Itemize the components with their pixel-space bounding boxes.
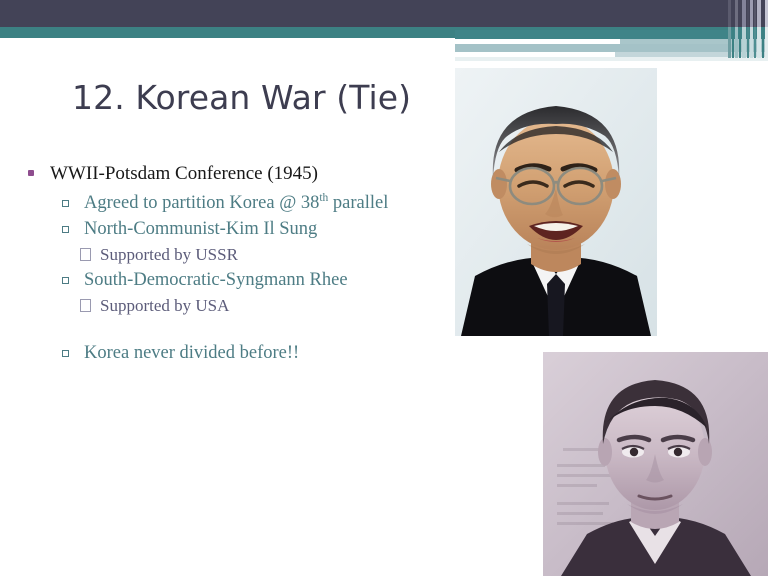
bullet-spacer (22, 318, 442, 340)
decor-vertical-stripe-5 (747, 0, 749, 58)
decor-vertical-stripe-3 (739, 0, 741, 58)
hollow-square-bullet-icon (62, 226, 69, 233)
bullet-text-tail: parallel (328, 193, 388, 213)
bullet-level2-partition: Agreed to partition Korea @ 38th paralle… (22, 190, 442, 216)
bullet-level3-usa: Supported by USA (22, 293, 442, 318)
portrait-kim-il-sung-graphic (455, 68, 657, 336)
hollow-square-bullet-icon (62, 350, 69, 357)
decor-vertical-stripe-7 (754, 0, 756, 58)
bullet-level2-north: North-Communist-Kim Il Sung (22, 216, 442, 242)
decor-strip-teal (455, 30, 768, 39)
superscript-ordinal: th (319, 192, 328, 204)
bullet-level1-potsdam: WWII-Potsdam Conference (1945) (22, 160, 442, 187)
bullet-text: Supported by USA (100, 296, 229, 315)
bullet-text-main: Agreed to partition Korea @ 38 (84, 193, 319, 213)
slide-body: WWII-Potsdam Conference (1945) Agreed to… (22, 160, 442, 366)
box-glyph-bullet-icon (80, 248, 91, 261)
bullet-text: North-Communist-Kim Il Sung (84, 219, 317, 239)
decor-vertical-stripe-1 (732, 0, 734, 58)
decor-vertical-stripe-0 (728, 0, 731, 58)
bullet-level2-never-divided: Korea never divided before!! (22, 340, 442, 366)
portrait-syngman-rhee-graphic (543, 352, 768, 576)
decor-vertical-stripe-2 (735, 0, 738, 58)
banner-white-mask (0, 38, 455, 58)
bullet-level3-ussr: Supported by USSR (22, 242, 442, 267)
filled-square-bullet-icon (28, 170, 34, 176)
bullet-text: Supported by USSR (100, 245, 238, 264)
decor-strip-light-blue-upper (455, 44, 768, 52)
bullet-level2-south: South-Democratic-Syngmann Rhee (22, 267, 442, 293)
decor-vertical-stripe-9 (762, 0, 764, 58)
banner-dark-band (0, 0, 768, 27)
decor-vertical-stripe-6 (750, 0, 753, 58)
bullet-text: South-Democratic-Syngmann Rhee (84, 270, 348, 290)
slide-title: 12. Korean War (Tie) (72, 78, 472, 117)
box-glyph-bullet-icon (80, 299, 91, 312)
decor-vertical-stripes (728, 0, 768, 58)
slide-canvas: 12. Korean War (Tie) WWII-Potsdam Confer… (0, 0, 768, 576)
decor-vertical-stripe-4 (742, 0, 746, 58)
decor-vertical-stripe-8 (757, 0, 761, 58)
hollow-square-bullet-icon (62, 200, 69, 207)
decor-strip-pale (455, 57, 768, 61)
bullet-text: Korea never divided before!! (84, 343, 299, 363)
bullet-text: Agreed to partition Korea @ 38th paralle… (84, 193, 388, 213)
portrait-kim-il-sung (455, 68, 657, 336)
portrait-syngman-rhee (543, 352, 768, 576)
bullet-text: WWII-Potsdam Conference (1945) (50, 163, 318, 184)
hollow-square-bullet-icon (62, 277, 69, 284)
